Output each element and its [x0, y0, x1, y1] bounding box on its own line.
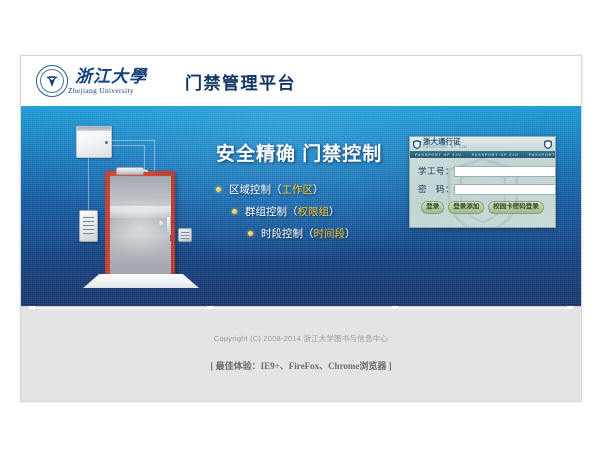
- bullet-highlight: 时间段: [314, 226, 346, 241]
- bullet-text: 区域控制（: [229, 182, 282, 197]
- bullet-highlight: 工作区: [282, 182, 314, 197]
- bullet-tail: ）: [345, 226, 356, 241]
- login-form: 学工号： 密 码： 登录 登录添加 校园卡密码登录: [410, 158, 555, 214]
- door-highlight-band: [110, 206, 171, 218]
- shield-icon: [413, 140, 421, 149]
- hero-banner: 安全精确 门禁控制 区域控制（工作区） 群组控制（权限组） 时段控制（时间段）: [21, 106, 581, 306]
- password-label: 密 码：: [418, 183, 454, 195]
- banner-bullet-area-control: 区域控制（工作区）: [216, 182, 416, 197]
- login-add-button[interactable]: 登录添加: [448, 201, 484, 214]
- zju-logo[interactable]: 浙江大學 Zhejiang University: [36, 65, 147, 97]
- strip-text: PASSPORT OF ZJU: [524, 153, 555, 157]
- bullet-text: 群组控制（: [245, 204, 298, 219]
- banner-bullet-time-control: 时段控制（时间段）: [248, 226, 416, 241]
- bullet-dot-icon: [248, 231, 253, 236]
- username-field[interactable]: [454, 166, 556, 177]
- password-field[interactable]: [454, 184, 556, 195]
- site-footer: Copyright (C) 2008-2014 浙江大学图书与信息中心 [ 最佳…: [21, 306, 581, 402]
- seal-bird-glyph: [45, 75, 59, 88]
- login-panel-strip: PASSPORT OF ZJU PASSPORT OF ZJU PASSPORT…: [410, 151, 555, 158]
- footer-browser-note: [ 最佳体验：IE9+、FireFox、Chrome浏览器 ]: [21, 359, 581, 372]
- banner-bullet-list: 区域控制（工作区） 群组控制（权限组） 时段控制（时间段）: [216, 182, 416, 241]
- shield-icon: [544, 140, 552, 149]
- zju-name-cn: 浙江大學: [75, 68, 147, 85]
- security-door-icon: [105, 171, 175, 276]
- bullet-tail: ）: [313, 182, 324, 197]
- cable-segment: [110, 145, 145, 146]
- bullet-text: 时段控制（: [261, 226, 314, 241]
- bullet-tail: ）: [329, 204, 340, 219]
- door-lock-plate-icon: [170, 235, 173, 241]
- login-button[interactable]: 登录: [421, 201, 444, 214]
- card-reader-icon: [178, 228, 192, 242]
- login-button-row: 登录 登录添加 校园卡密码登录: [418, 201, 547, 214]
- banner-headline: 安全精确 门禁控制: [216, 139, 416, 166]
- page-title: 门禁管理平台: [185, 69, 296, 94]
- footer-tick: [392, 306, 398, 309]
- login-panel-titles: 浙大通行证 PASSPORT OF ZJU: [421, 138, 468, 150]
- password-row: 密 码：: [418, 183, 547, 195]
- floor-plate: [83, 274, 199, 288]
- banner-copy: 安全精确 门禁控制 区域控制（工作区） 群组控制（权限组） 时段控制（时间段）: [216, 139, 416, 248]
- strip-text: PASSPORT OF ZJU: [467, 153, 524, 157]
- login-panel-title-en: PASSPORT OF ZJU: [423, 146, 468, 150]
- bullet-dot-icon: [232, 209, 237, 214]
- keypad-buttons-icon: [83, 216, 94, 234]
- login-panel-title-cn: 浙大通行证: [423, 138, 468, 146]
- footer-tick: [207, 306, 213, 309]
- strip-text: PASSPORT OF ZJU: [410, 153, 467, 157]
- access-controller-box-icon: [76, 126, 112, 158]
- zju-name-block: 浙江大學 Zhejiang University: [68, 68, 147, 95]
- username-row: 学工号：: [418, 165, 547, 177]
- zju-seal-icon: [36, 65, 68, 97]
- door-handle-icon: [167, 217, 170, 233]
- zju-name-en: Zhejiang University: [68, 87, 147, 95]
- door-leaf: [110, 176, 171, 276]
- cable-segment: [110, 140, 155, 141]
- banner-bullet-group-control: 群组控制（权限组）: [232, 204, 416, 219]
- site-header: 浙江大學 Zhejiang University 门禁管理平台: [21, 56, 581, 106]
- login-panel: 浙大通行证 PASSPORT OF ZJU PASSPORT OF ZJU PA…: [409, 136, 556, 228]
- username-label: 学工号：: [418, 165, 454, 177]
- footer-tick: [567, 306, 573, 309]
- bullet-dot-icon: [216, 187, 221, 192]
- access-control-illustration: [51, 124, 201, 294]
- login-panel-header: 浙大通行证 PASSPORT OF ZJU: [410, 137, 555, 151]
- footer-tick: [29, 306, 35, 309]
- bullet-highlight: 权限组: [298, 204, 330, 219]
- keypad-reader-icon: [79, 210, 98, 242]
- door-knob-icon: [159, 221, 164, 226]
- page-shell: 浙江大學 Zhejiang University 门禁管理平台: [20, 55, 582, 402]
- campus-card-login-button[interactable]: 校园卡密码登录: [488, 201, 544, 214]
- cable-segment: [88, 156, 89, 212]
- controller-led-icon: [105, 141, 108, 144]
- footer-copyright: Copyright (C) 2008-2014 浙江大学图书与信息中心: [21, 333, 581, 344]
